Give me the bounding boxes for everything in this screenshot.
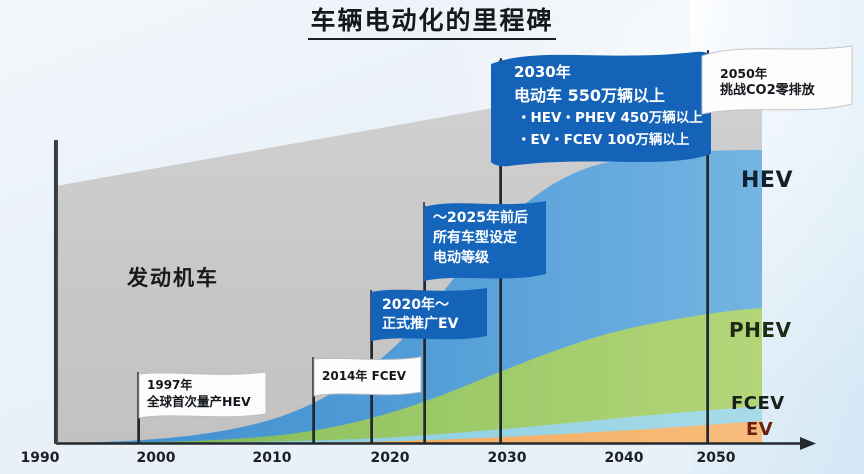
x-tick-2000: 2000 xyxy=(137,450,176,466)
x-tick-2030: 2030 xyxy=(488,450,527,466)
annotation-2025-line2: 所有车型设定 xyxy=(433,230,517,248)
infographic-root: 车辆电动化的里程碑 xyxy=(0,0,864,474)
annotation-2030-line3: ・HEV・PHEV 450万辆以上 xyxy=(517,110,703,127)
annotation-1997-line1: 1997年 xyxy=(147,378,192,393)
annotation-2050[interactable]: 2050年 挑战CO2零排放 xyxy=(700,44,856,444)
annotation-2030-line1: 2030年 xyxy=(514,63,571,82)
x-tick-2050: 2050 xyxy=(697,450,736,466)
annotation-2030-line2: 电动车 550万辆以上 xyxy=(514,86,665,106)
x-tick-2040: 2040 xyxy=(605,450,644,466)
y-axis xyxy=(54,140,58,444)
x-tick-1990: 1990 xyxy=(21,450,60,466)
annotation-2020-line1: 2020年～ xyxy=(382,297,449,315)
flag-shape-2050 xyxy=(700,44,856,120)
annotation-2050-line1: 2050年 xyxy=(720,66,767,82)
annotation-2020-line2: 正式推广EV xyxy=(382,316,458,334)
annotation-2030-line4: ・EV・FCEV 100万辆以上 xyxy=(517,132,689,149)
annotation-1997[interactable]: 1997年 全球首次量产HEV xyxy=(138,370,268,444)
x-tick-2020: 2020 xyxy=(371,450,410,466)
annotation-2025-line3: 电动等级 xyxy=(433,250,489,268)
annotation-2025-line1: ～2025年前后 xyxy=(433,210,528,228)
x-tick-2010: 2010 xyxy=(253,450,292,466)
region-label-ice: 发动机车 xyxy=(127,262,219,292)
annotation-2014-line1: 2014年 FCEV xyxy=(322,369,406,384)
annotation-1997-line2: 全球首次量产HEV xyxy=(147,394,251,410)
annotation-2050-line2: 挑战CO2零排放 xyxy=(720,83,815,99)
